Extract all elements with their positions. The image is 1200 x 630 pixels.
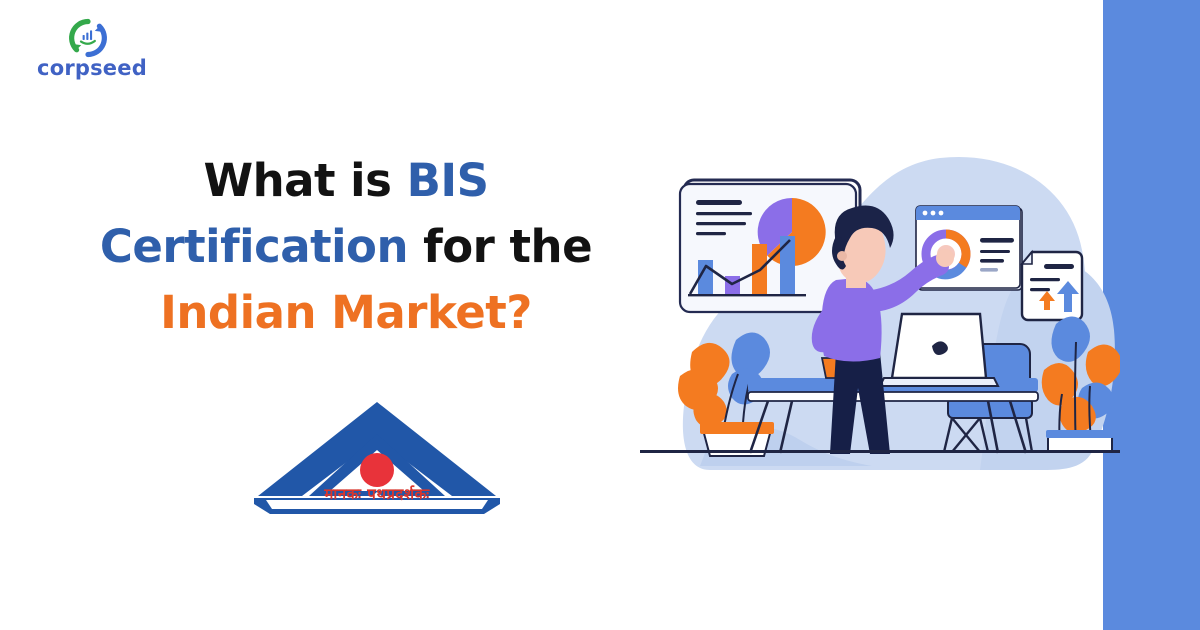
title-line-2: Certification for the — [60, 214, 632, 280]
brand-wordmark: corpseed — [32, 56, 152, 80]
title-line-3-part-1: Indian Market? — [160, 286, 532, 339]
window-dot-3 — [939, 211, 944, 216]
window-dot-1 — [923, 211, 928, 216]
corpseed-circular-arrow-growth-chart-icon — [68, 18, 108, 58]
page-title: What is BIS Certification for the Indian… — [60, 148, 632, 346]
title-line-1: What is BIS — [60, 148, 632, 214]
title-line-1-part-2: BIS — [407, 154, 489, 207]
bis-emblem: मानकः पथप्रदर्शकः — [246, 392, 508, 524]
title-line-2-part-1: Certification — [100, 220, 408, 273]
brand-logo[interactable]: corpseed — [32, 18, 152, 80]
title-line-1-part-1: What is — [203, 154, 406, 207]
title-line-2-part-2: for the — [408, 220, 592, 273]
bis-motto-text: मानकः पथप्रदर्शकः — [246, 484, 508, 504]
banner-canvas: corpseed What is BIS Certification for t… — [0, 0, 1200, 630]
certificate-document-card — [1022, 252, 1082, 320]
window-dot-2 — [931, 211, 936, 216]
title-line-3: Indian Market? — [60, 280, 632, 346]
business-analytics-workspace-illustration — [640, 140, 1120, 500]
bis-emblem-graphic — [246, 392, 508, 524]
floor-line — [640, 450, 1120, 453]
